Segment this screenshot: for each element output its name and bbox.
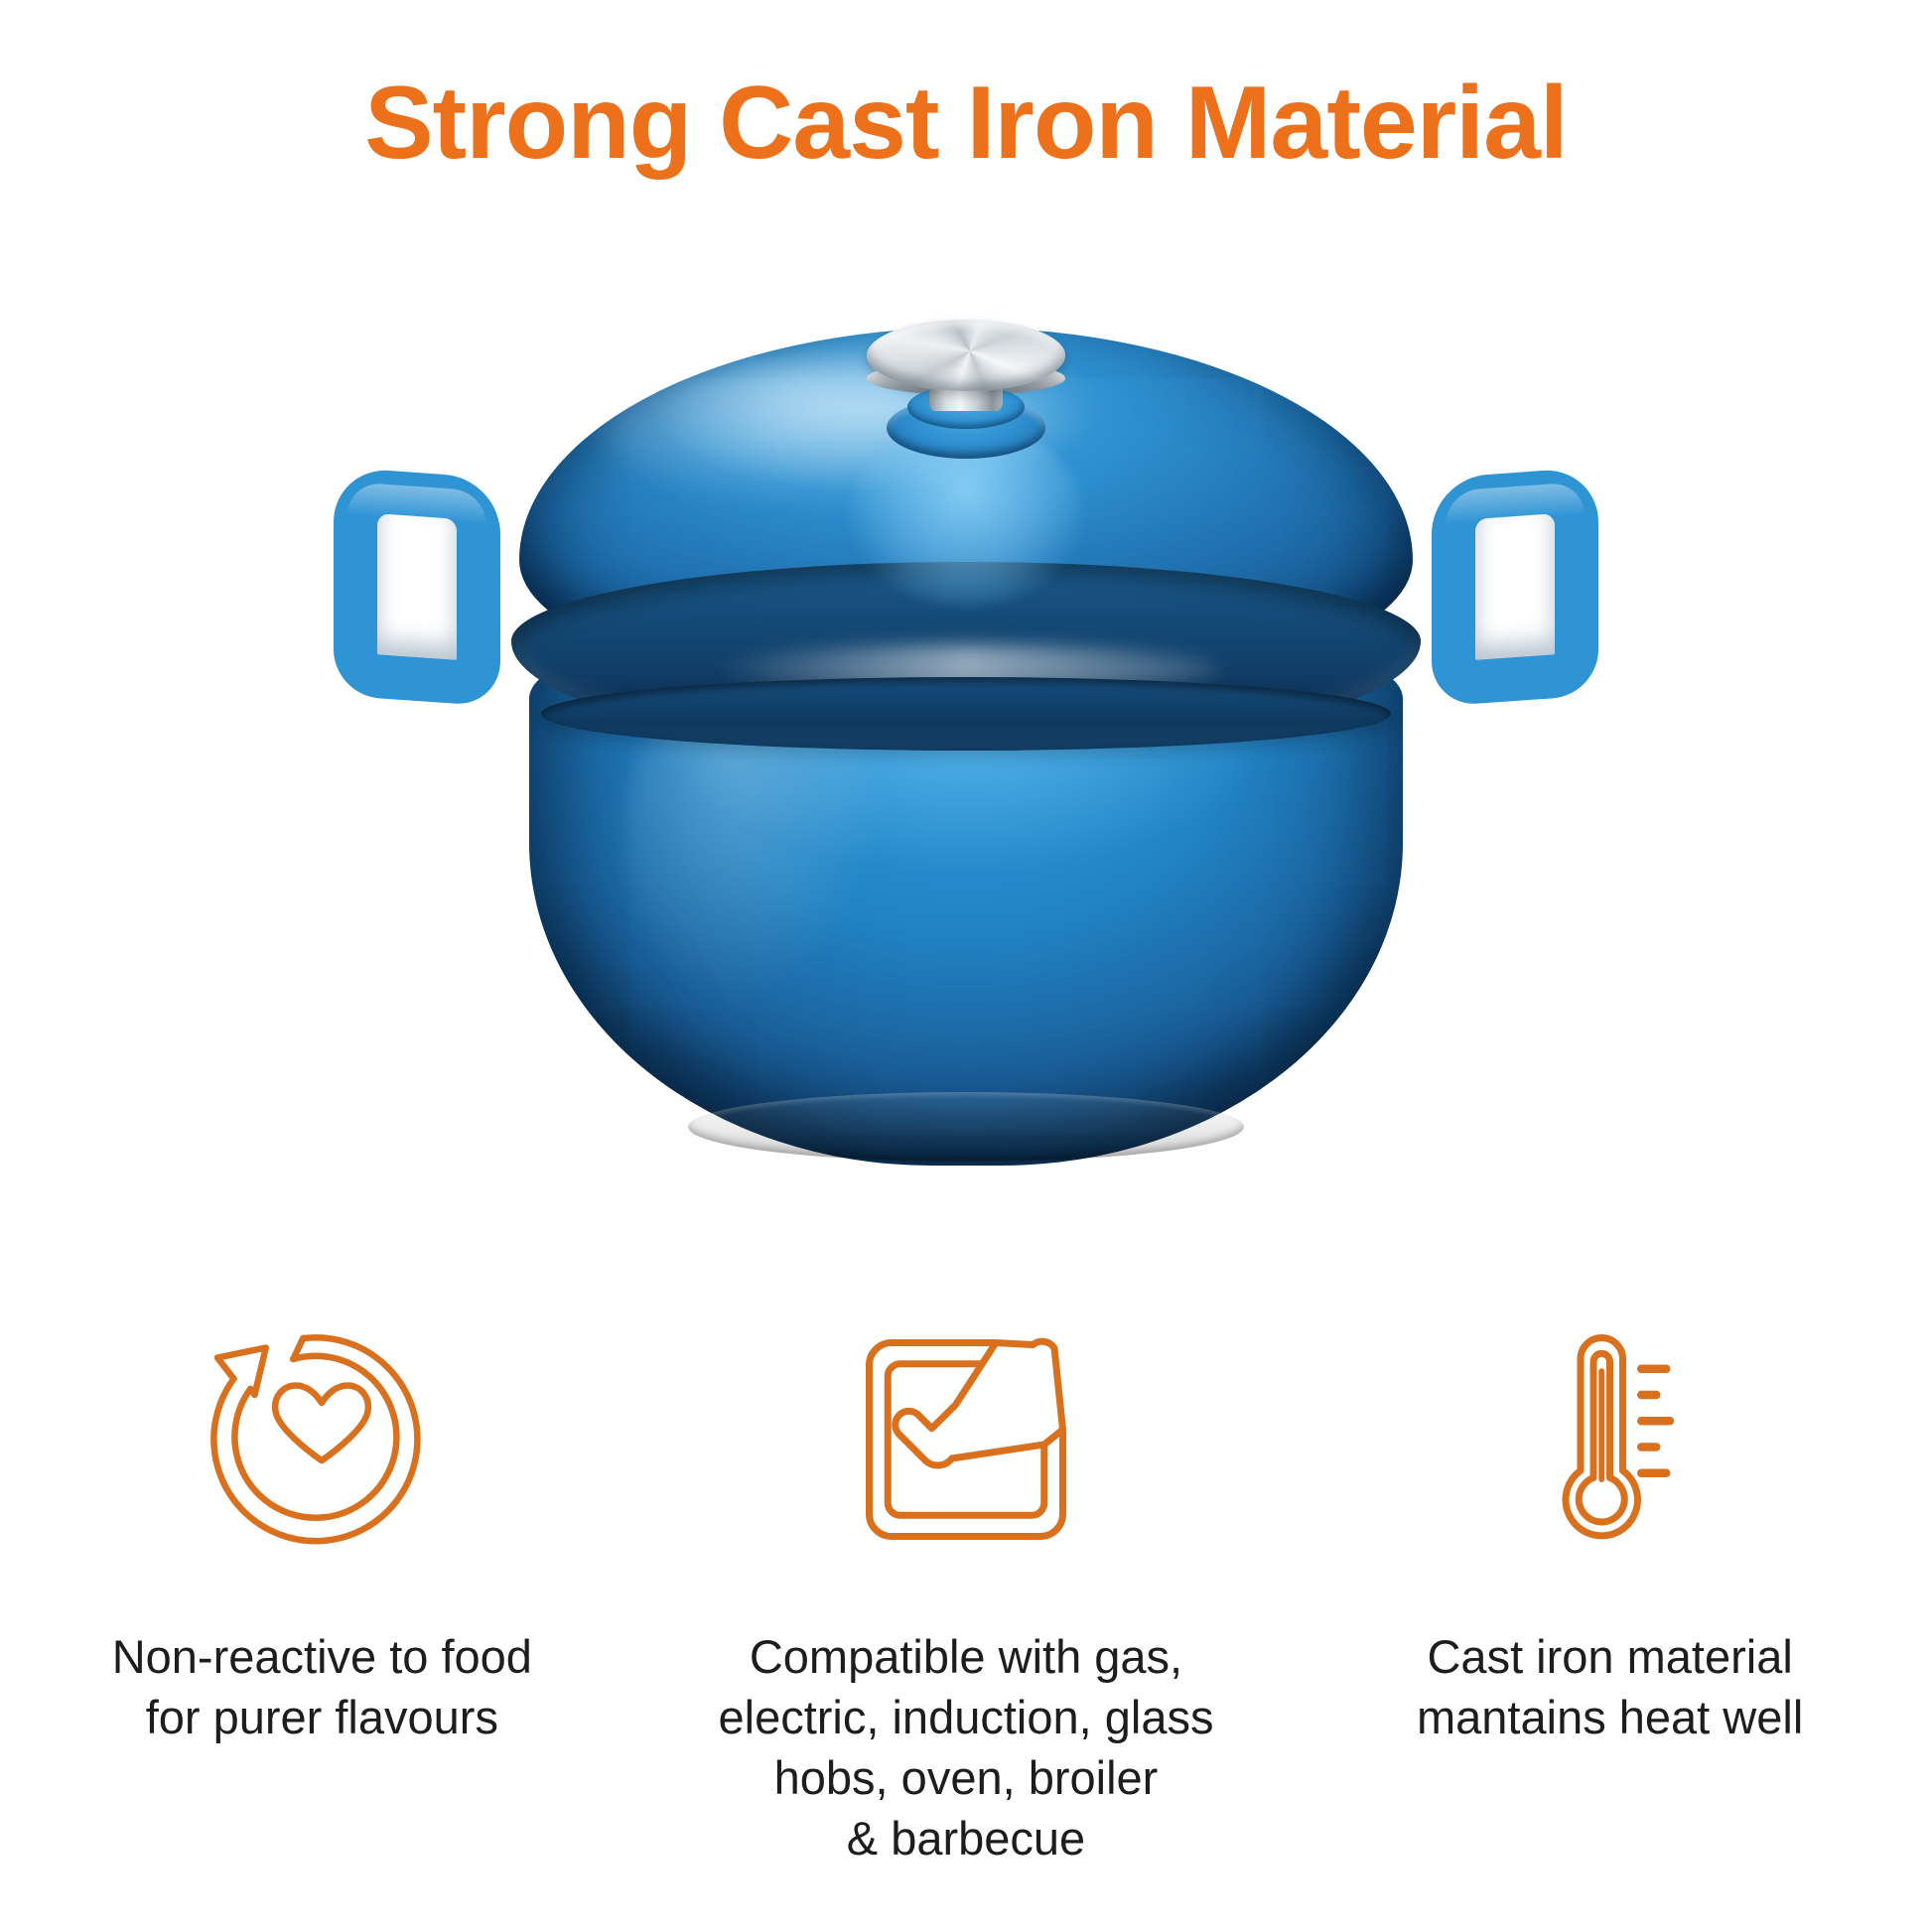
pot-lid bbox=[519, 328, 1413, 725]
lid-lip bbox=[541, 677, 1391, 751]
feature-icon-container bbox=[44, 1291, 600, 1588]
caption-line: mantains heat well bbox=[1332, 1687, 1888, 1747]
caption-line: electric, induction, glass bbox=[688, 1687, 1244, 1747]
feature-compatible-heat-sources: Compatible with gas, electric, induction… bbox=[688, 1291, 1244, 1868]
caption-line: Non-reactive to food bbox=[44, 1626, 600, 1687]
feature-heat-retention: Cast iron material mantains heat well bbox=[1332, 1291, 1888, 1747]
feature-caption: Cast iron material mantains heat well bbox=[1332, 1626, 1888, 1747]
feature-row: Non-reactive to food for purer flavours bbox=[0, 1291, 1932, 1868]
infographic-page: Strong Cast Iron Material bbox=[0, 0, 1932, 1932]
feature-non-reactive: Non-reactive to food for purer flavours bbox=[44, 1291, 600, 1747]
thermometer-icon bbox=[1486, 1315, 1734, 1564]
feature-icon-container bbox=[688, 1291, 1244, 1588]
lid-knob bbox=[862, 306, 1070, 455]
page-title-container: Strong Cast Iron Material bbox=[0, 68, 1932, 179]
feature-caption: Compatible with gas, electric, induction… bbox=[688, 1626, 1244, 1868]
hero-product-image bbox=[0, 328, 1932, 1201]
feature-caption: Non-reactive to food for purer flavours bbox=[44, 1626, 600, 1747]
knob-cap bbox=[867, 320, 1065, 391]
caption-line: hobs, oven, broiler bbox=[688, 1747, 1244, 1808]
caption-line: for purer flavours bbox=[44, 1687, 600, 1747]
pot-handle-left-icon bbox=[334, 467, 500, 707]
recycle-heart-icon bbox=[198, 1315, 446, 1564]
dutch-oven-illustration bbox=[326, 328, 1606, 1201]
pot-handle-right-icon bbox=[1432, 467, 1598, 707]
feature-icon-container bbox=[1332, 1291, 1888, 1588]
caption-line: & barbecue bbox=[688, 1808, 1244, 1868]
page-title: Strong Cast Iron Material bbox=[364, 68, 1568, 179]
caption-line: Compatible with gas, bbox=[688, 1626, 1244, 1687]
checkbox-check-icon bbox=[842, 1315, 1090, 1564]
caption-line: Cast iron material bbox=[1332, 1626, 1888, 1687]
pot-foot-ring bbox=[688, 1092, 1244, 1162]
